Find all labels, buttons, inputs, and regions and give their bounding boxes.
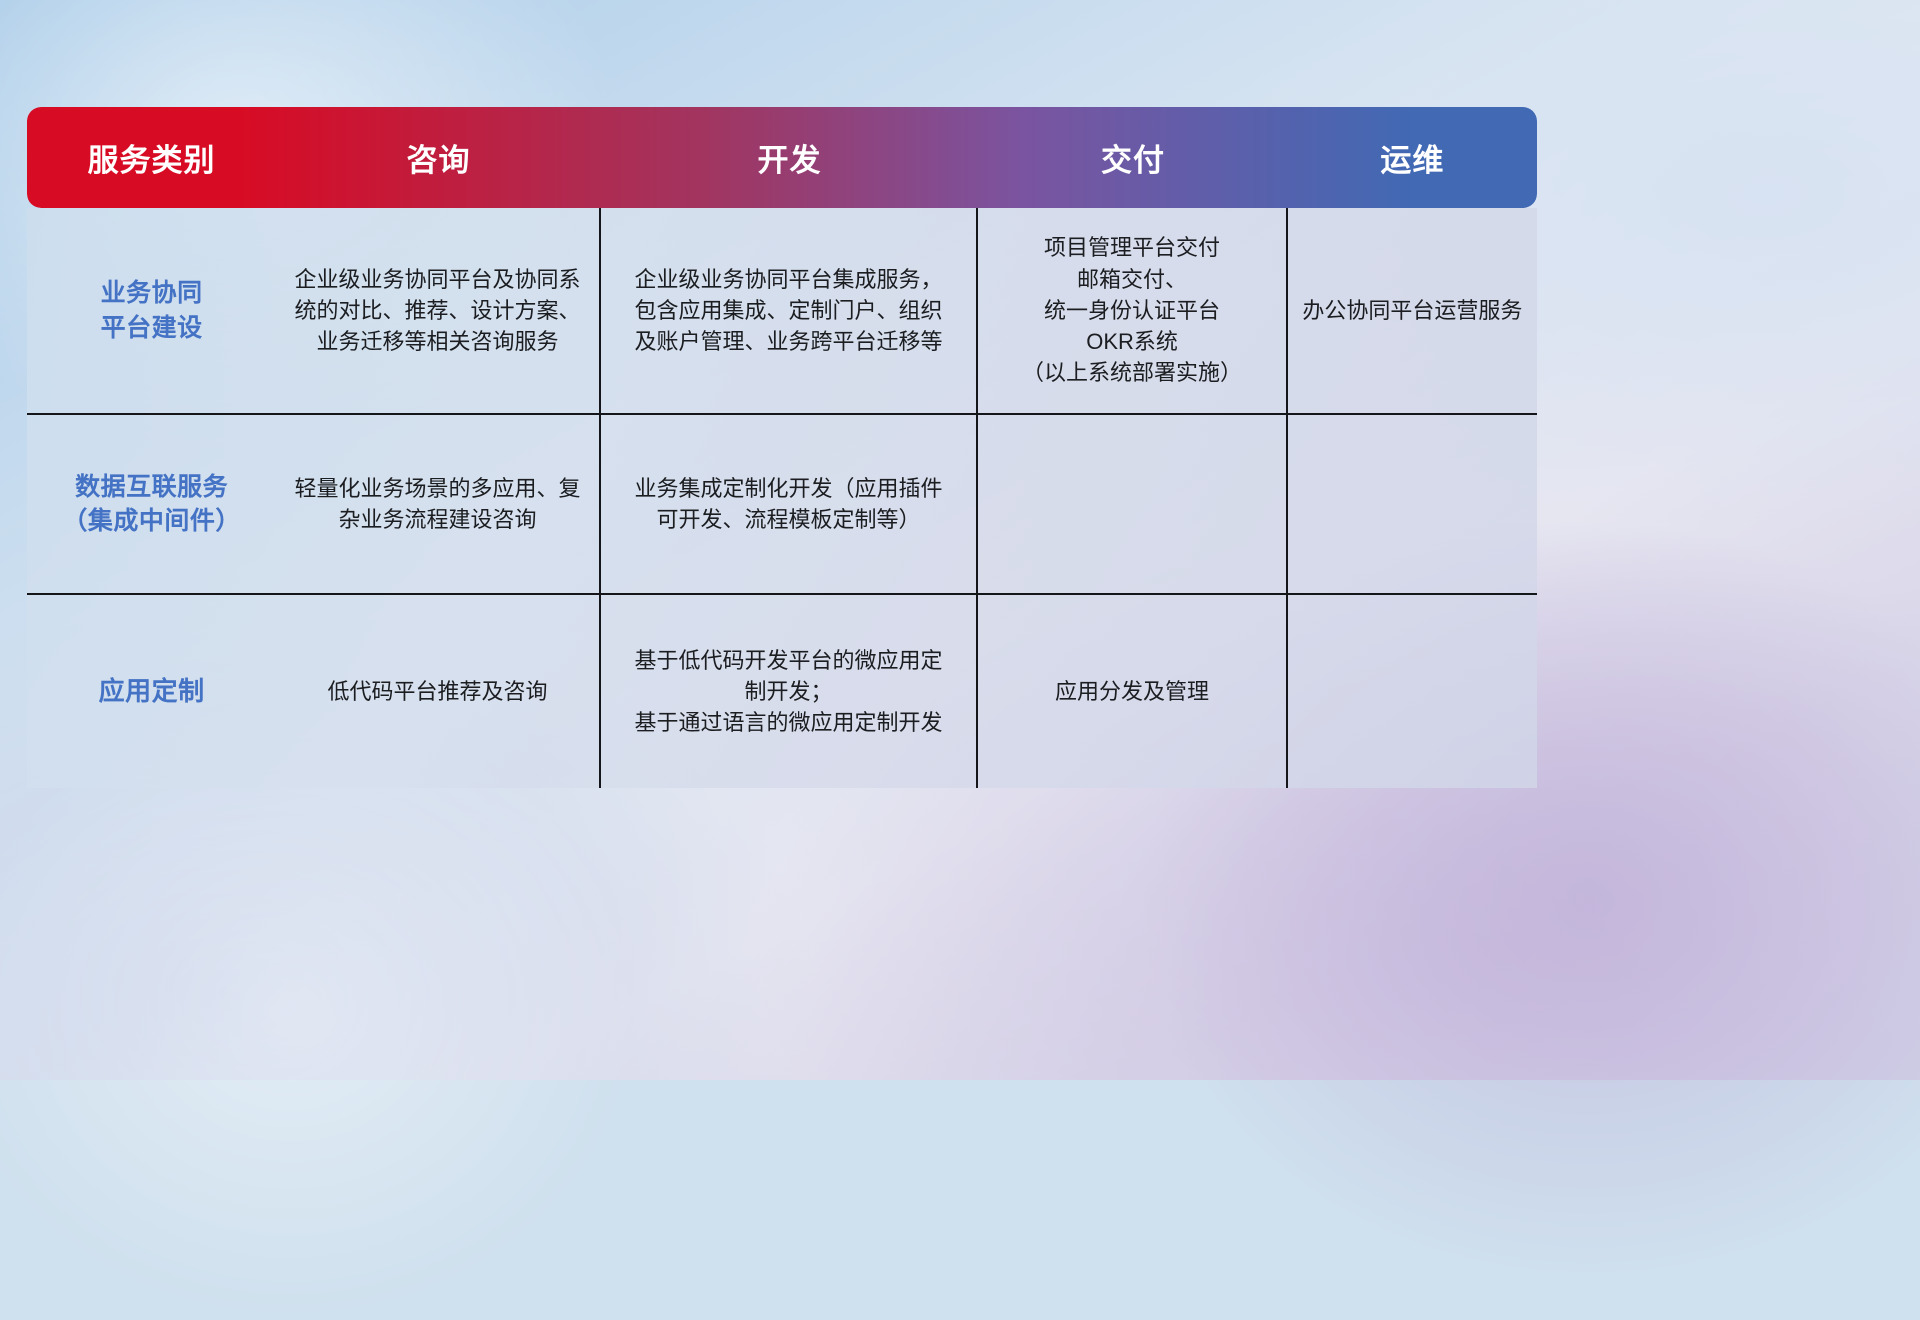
cell-operations [1288, 595, 1537, 788]
table-header-cell-development: 开发 [601, 135, 979, 180]
table-body: 业务协同 平台建设企业级业务协同平台及协同系 统的对比、推荐、设计方案、 业务迁… [27, 208, 1537, 788]
row-label-cell: 业务协同 平台建设 [27, 208, 276, 413]
service-matrix-table: 服务类别咨询开发交付运维 业务协同 平台建设企业级业务协同平台及协同系 统的对比… [27, 107, 1537, 787]
cell-consulting: 低代码平台推荐及咨询 [276, 595, 601, 788]
background-glow-bottom-left [0, 700, 640, 1320]
cell-delivery: 应用分发及管理 [978, 595, 1288, 788]
row-label-cell: 应用定制 [27, 595, 276, 788]
cell-development: 业务集成定制化开发（应用插件 可开发、流程模板定制等） [601, 415, 979, 593]
cell-delivery: 项目管理平台交付 邮箱交付、 统一身份认证平台 OKR系统 （以上系统部署实施） [978, 208, 1288, 413]
table-row: 数据互联服务 （集成中间件）轻量化业务场景的多应用、复 杂业务流程建设咨询业务集… [27, 415, 1537, 595]
table-row: 业务协同 平台建设企业级业务协同平台及协同系 统的对比、推荐、设计方案、 业务迁… [27, 208, 1537, 415]
cell-delivery [978, 415, 1288, 593]
table-header-cell-category: 服务类别 [27, 135, 276, 180]
cell-consulting: 企业级业务协同平台及协同系 统的对比、推荐、设计方案、 业务迁移等相关咨询服务 [276, 208, 601, 413]
table-header-cell-operations: 运维 [1288, 135, 1537, 180]
cell-development: 企业级业务协同平台集成服务， 包含应用集成、定制门户、组织 及账户管理、业务跨平… [601, 208, 979, 413]
cell-operations: 办公协同平台运营服务 [1288, 208, 1537, 413]
table-header-cell-consulting: 咨询 [276, 135, 601, 180]
cell-consulting: 轻量化业务场景的多应用、复 杂业务流程建设咨询 [276, 415, 601, 593]
cell-development: 基于低代码开发平台的微应用定 制开发； 基于通过语言的微应用定制开发 [601, 595, 979, 788]
table-header-row: 服务类别咨询开发交付运维 [27, 107, 1537, 208]
row-label-cell: 数据互联服务 （集成中间件） [27, 415, 276, 593]
table-header-cell-delivery: 交付 [978, 135, 1288, 180]
table-row: 应用定制低代码平台推荐及咨询基于低代码开发平台的微应用定 制开发； 基于通过语言… [27, 595, 1537, 788]
cell-operations [1288, 415, 1537, 593]
